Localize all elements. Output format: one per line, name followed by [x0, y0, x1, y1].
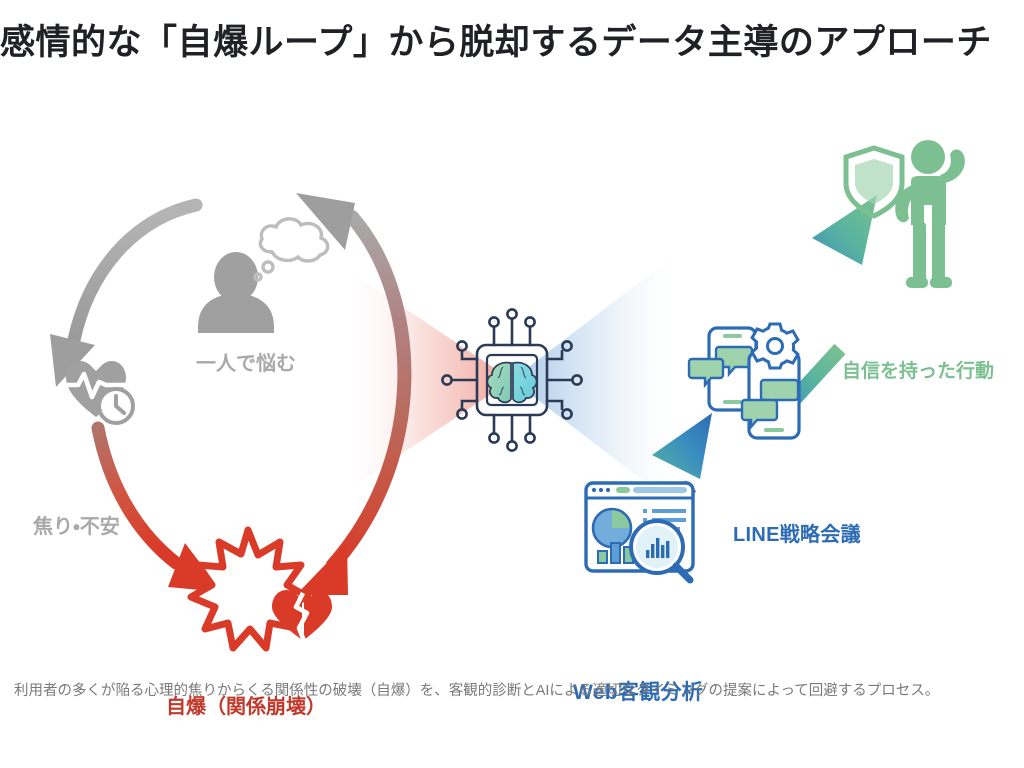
slide-caption: 利用者の多くが陥る心理的焦りからくる関係性の破壊（自爆）を、客観的診断とAIによ… [14, 678, 1004, 705]
loop-node-label-alone: 一人で悩む [196, 347, 296, 376]
page-title: 感情的な「自爆ループ」から脱却するデータ主導のアプローチ [0, 22, 1024, 64]
solution-step-label-line-meeting: LINE戦略会議 [733, 518, 861, 547]
self-destruct-loop [50, 193, 404, 648]
heartbeat-clock-icon [62, 361, 134, 424]
loop-node-label-anxiety: 焦り・不安 [33, 510, 120, 539]
slide-canvas: 感情的な「自爆ループ」から脱却するデータ主導のアプローチ [0, 0, 1024, 768]
diagram-stage: 一人で悩む 焦り・不安 自爆（関係崩壊） Web客観分析 LINE戦略会議 自信… [0, 95, 1024, 670]
loop-arrow-alone-to-anxiety [50, 205, 196, 387]
person-thought-bubble-icon [198, 219, 328, 333]
browser-analytics-magnifier-icon [586, 483, 693, 580]
solution-step-label-confident-action: 自信を持った行動 [842, 356, 994, 383]
